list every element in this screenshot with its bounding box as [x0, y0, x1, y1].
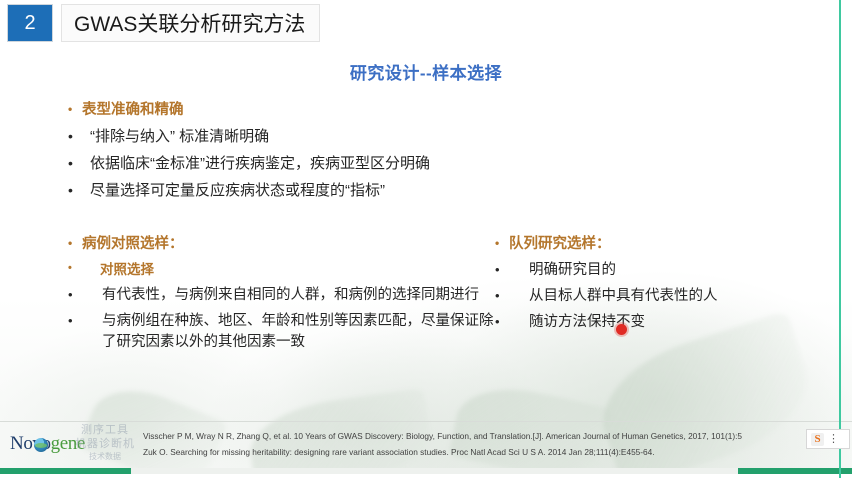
cohort-heading-label: 队列研究选样：	[509, 234, 840, 255]
phenotype-heading: • 表型准确和精确	[68, 100, 588, 121]
list-item-label: 有代表性，与病例来自相同的人群，和病例的选择同期进行	[102, 285, 498, 306]
page-title: GWAS关联分析研究方法	[74, 8, 305, 38]
bullet-dot-icon: •	[495, 312, 509, 332]
slide-number-text: 2	[24, 12, 35, 35]
case-control-heading: • 病例对照选样：	[68, 234, 498, 255]
list-item: • 随访方法保持不变	[495, 312, 840, 333]
list-item-label: “排除与纳入” 标准清晰明确	[90, 126, 588, 148]
bullet-dot-icon: •	[68, 260, 82, 278]
phenotype-heading-label: 表型准确和精确	[82, 100, 588, 121]
s-logo-icon[interactable]: S	[811, 433, 824, 446]
bullet-dot-icon: •	[68, 100, 82, 118]
reference-item: Zuk O. Searching for missing heritabilit…	[143, 444, 843, 460]
list-item: • 依据临床“金标准”进行疾病鉴定，疾病亚型区分明确	[68, 153, 588, 175]
bullet-dot-icon: •	[495, 234, 509, 252]
list-item-label: 随访方法保持不变	[529, 312, 840, 333]
right-edge-rule	[839, 0, 841, 478]
bottom-edge	[0, 474, 852, 478]
slide-number-badge: 2	[7, 4, 53, 42]
bullet-dot-icon: •	[68, 285, 82, 305]
section-title: 研究设计--样本选择	[0, 59, 852, 84]
case-control-subheading: • 对照选择	[68, 260, 498, 280]
slide-title-box: GWAS关联分析研究方法	[61, 4, 320, 42]
floating-mini-toolbar[interactable]: S ⋮	[806, 429, 850, 449]
case-control-block: • 病例对照选样： • 对照选择 • 有代表性，与病例来自相同的人群，和病例的选…	[68, 234, 498, 358]
bullet-dot-icon: •	[68, 311, 82, 331]
bullet-dot-icon: •	[68, 234, 82, 252]
list-item: • 尽量选择可定量反应疾病状态或程度的“指标”	[68, 180, 588, 202]
background-leaf-shape	[78, 374, 228, 478]
bullet-dot-icon: •	[495, 260, 509, 280]
reference-item: Visscher P M, Wray N R, Zhang Q, et al. …	[143, 428, 843, 444]
footer-divider	[0, 421, 852, 422]
vertical-dots-icon[interactable]: ⋮	[828, 434, 839, 445]
novogene-logo: Novogene	[8, 432, 138, 462]
list-item-label: 依据临床“金标准”进行疾病鉴定，疾病亚型区分明确	[90, 153, 588, 175]
bullet-dot-icon: •	[68, 153, 82, 173]
bullet-dot-icon: •	[495, 286, 509, 306]
list-item-label: 从目标人群中具有代表性的人	[529, 286, 840, 307]
list-item-label: 明确研究目的	[529, 260, 840, 281]
cohort-block: • 队列研究选样： • 明确研究目的 • 从目标人群中具有代表性的人 • 随访方…	[495, 234, 840, 339]
case-control-subheading-label: 对照选择	[100, 260, 498, 280]
slide-canvas: 2 GWAS关联分析研究方法 研究设计--样本选择 • 表型准确和精确 • “排…	[0, 0, 852, 478]
case-control-list: • 病例对照选样： • 对照选择 • 有代表性，与病例来自相同的人群，和病例的选…	[68, 234, 498, 353]
list-item-label: 与病例组在种族、地区、年龄和性别等因素匹配，尽量保证除了研究因素以外的其他因素一…	[102, 311, 498, 353]
bullet-dot-icon: •	[68, 126, 82, 146]
list-item: • 从目标人群中具有代表性的人	[495, 286, 840, 307]
cohort-list: • 队列研究选样： • 明确研究目的 • 从目标人群中具有代表性的人 • 随访方…	[495, 234, 840, 334]
globe-icon	[34, 438, 48, 452]
phenotype-list: • 表型准确和精确 • “排除与纳入” 标准清晰明确 • 依据临床“金标准”进行…	[68, 100, 588, 202]
list-item: • 与病例组在种族、地区、年龄和性别等因素匹配，尽量保证除了研究因素以外的其他因…	[68, 311, 498, 353]
case-control-heading-label: 病例对照选样：	[82, 234, 498, 255]
phenotype-block: • 表型准确和精确 • “排除与纳入” 标准清晰明确 • 依据临床“金标准”进行…	[68, 100, 588, 207]
bullet-dot-icon: •	[68, 180, 82, 200]
cohort-heading: • 队列研究选样：	[495, 234, 840, 255]
list-item-label: 尽量选择可定量反应疾病状态或程度的“指标”	[90, 180, 588, 202]
list-item: • “排除与纳入” 标准清晰明确	[68, 126, 588, 148]
reference-list: Visscher P M, Wray N R, Zhang Q, et al. …	[143, 428, 843, 460]
logo-text-gene: gene	[51, 433, 85, 454]
list-item: • 有代表性，与病例来自相同的人群，和病例的选择同期进行	[68, 285, 498, 306]
list-item: • 明确研究目的	[495, 260, 840, 281]
